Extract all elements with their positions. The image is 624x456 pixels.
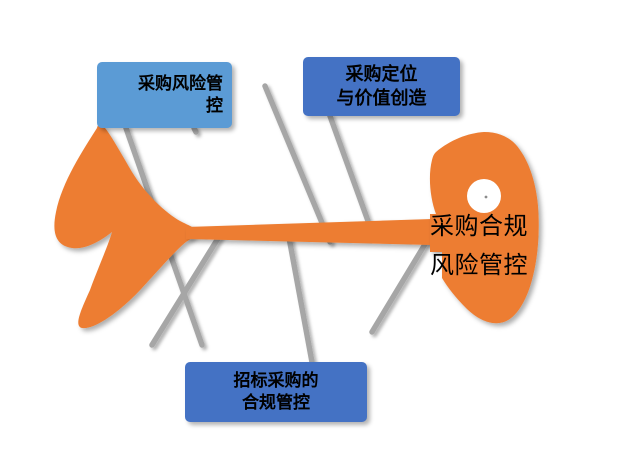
- bone-upper-left-2: [194, 128, 196, 132]
- cause-box-risk-control-line1: 采购风险管: [103, 73, 223, 95]
- fish-spine: [186, 219, 432, 245]
- cause-box-positioning-value-line1: 采购定位: [309, 63, 454, 86]
- bone-lower-right: [372, 236, 430, 332]
- cause-box-risk-control-text: 采购风险管 控: [97, 73, 232, 117]
- head-label-line1: 采购合规: [430, 208, 560, 247]
- cause-box-positioning-value-text: 采购定位 与价值创造: [303, 63, 460, 110]
- fish-eye-pupil: [485, 196, 488, 199]
- fish-tail: [54, 124, 196, 328]
- bone-upper-right: [330, 116, 372, 232]
- fishbone-diagram-canvas: 采购合规 风险管控 采购风险管 控 采购定位 与价值创造 招标采购的 合规管控: [0, 0, 624, 456]
- bone-lower-mid: [288, 232, 312, 362]
- cause-box-bidding-compliance-line2: 合规管控: [191, 392, 361, 414]
- cause-box-bidding-compliance-line1: 招标采购的: [191, 370, 361, 392]
- cause-box-bidding-compliance[interactable]: 招标采购的 合规管控: [185, 362, 367, 422]
- cause-box-risk-control-line2: 控: [103, 95, 223, 117]
- cause-box-positioning-value[interactable]: 采购定位 与价值创造: [303, 57, 460, 116]
- fish-head-label: 采购合规 风险管控: [430, 208, 560, 286]
- cause-box-bidding-compliance-text: 招标采购的 合规管控: [185, 370, 367, 414]
- cause-box-risk-control[interactable]: 采购风险管 控: [97, 62, 232, 128]
- head-label-line2: 风险管控: [430, 247, 560, 286]
- cause-box-positioning-value-line2: 与价值创造: [309, 87, 454, 110]
